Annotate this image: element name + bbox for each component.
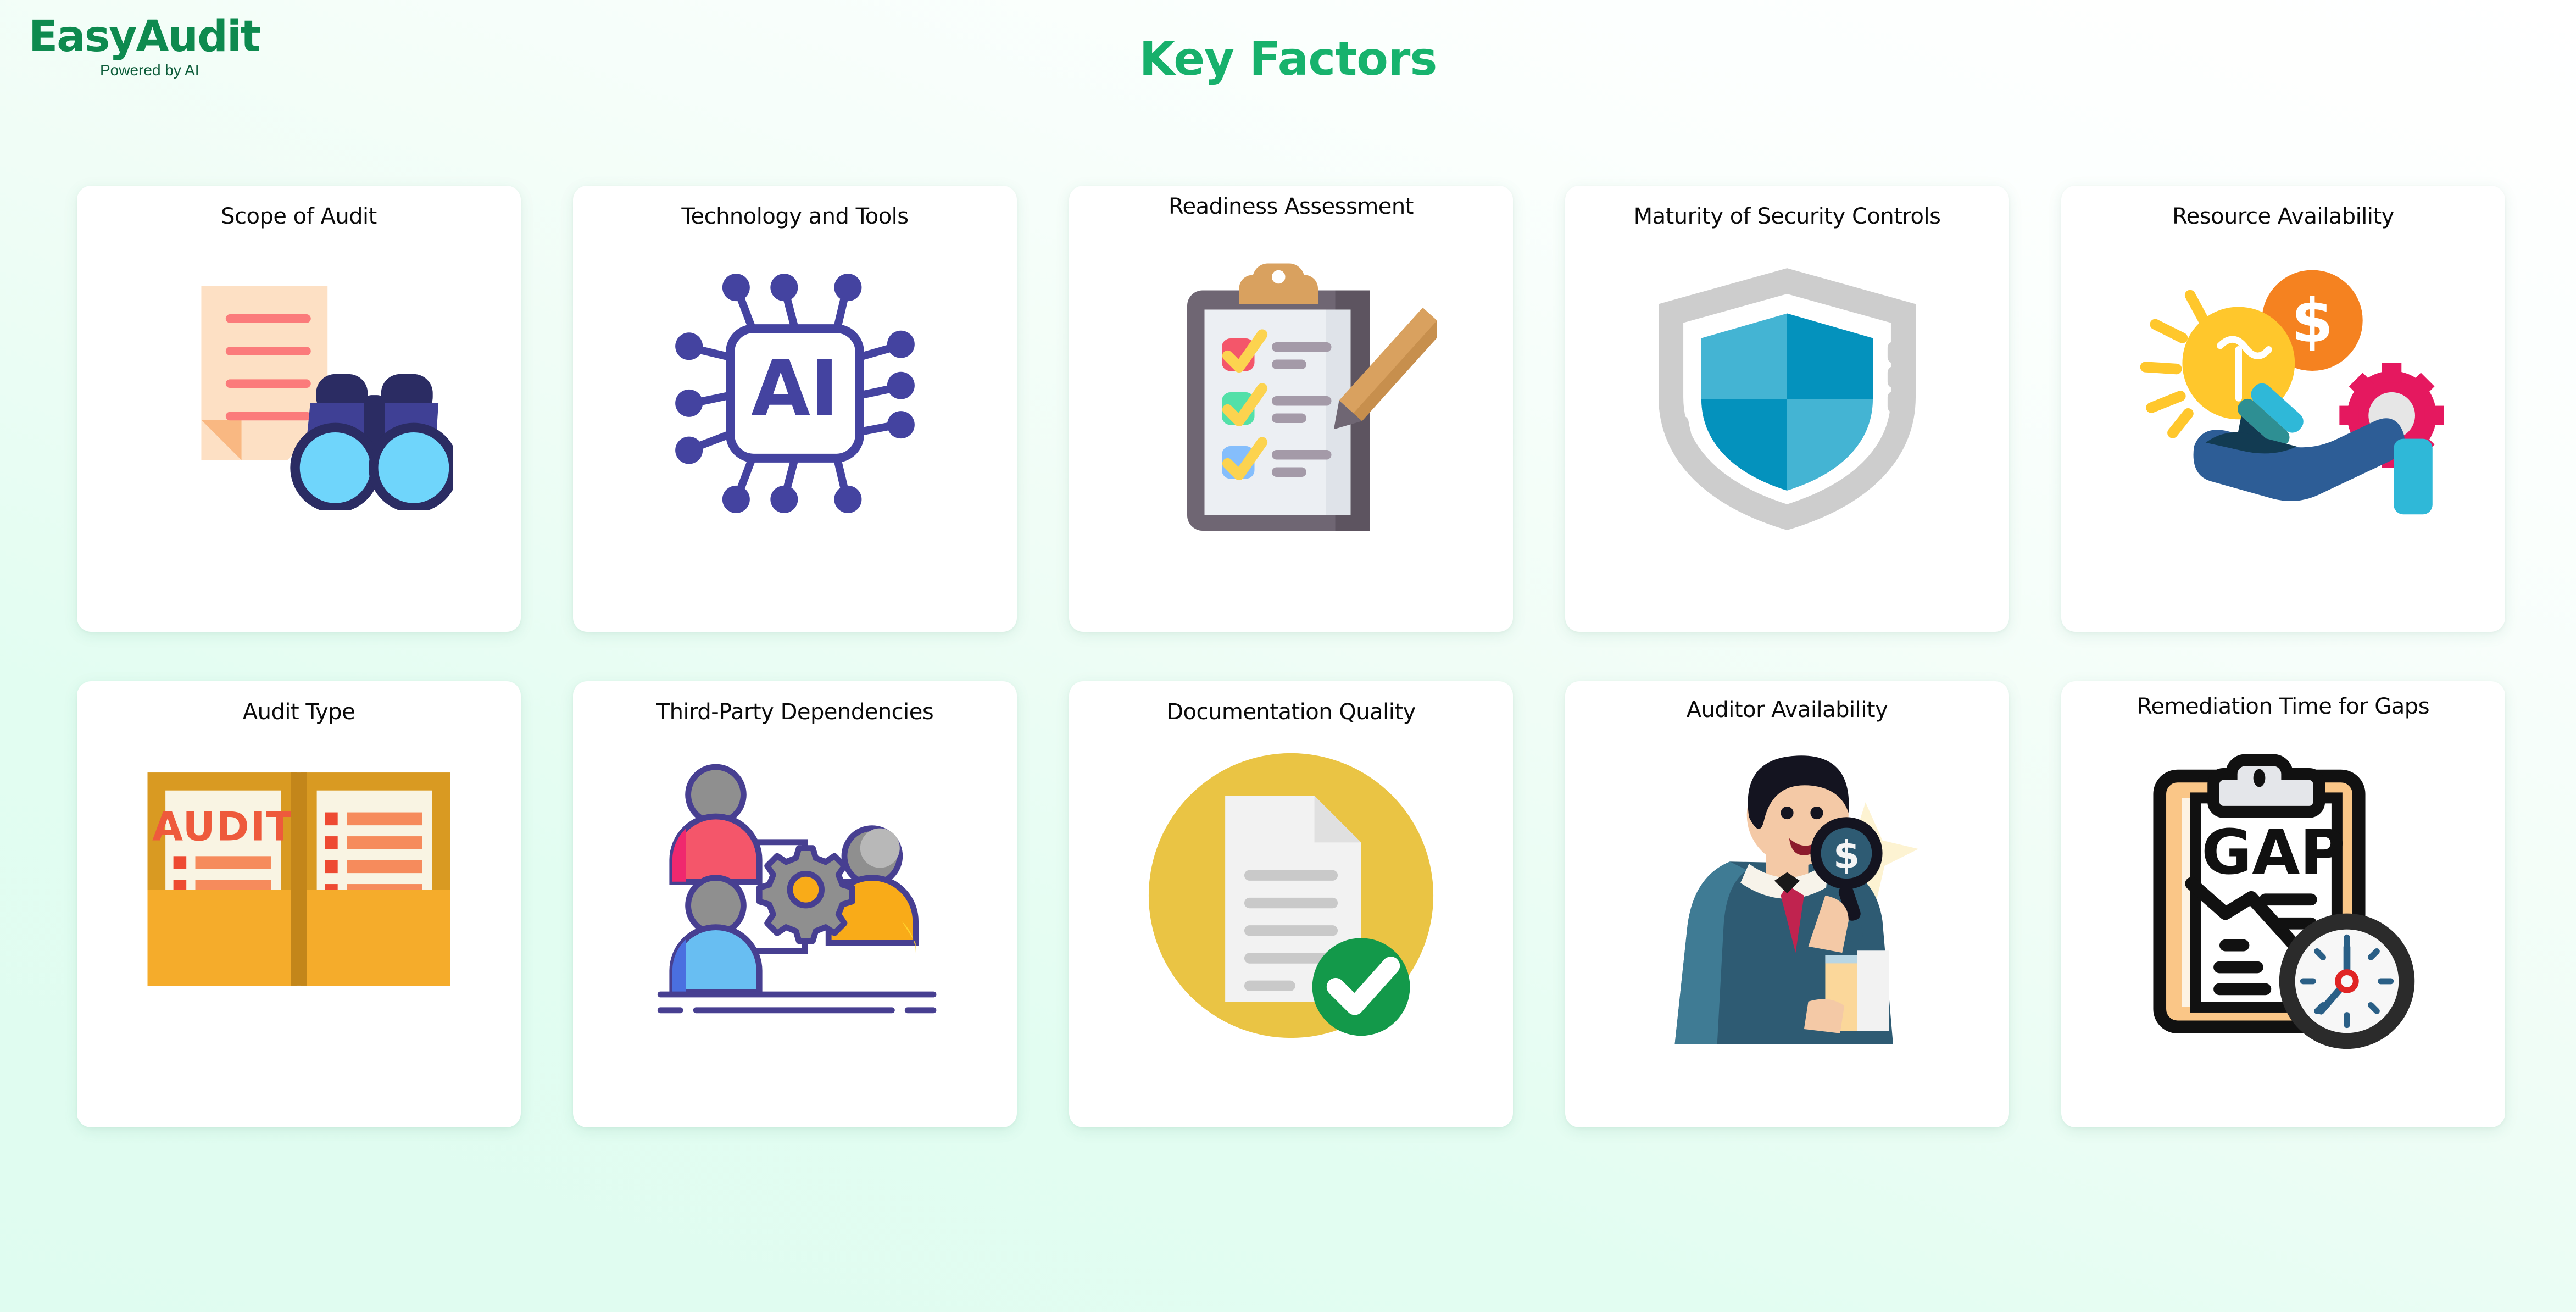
page-title: Key Factors — [0, 32, 2576, 86]
factor-card-technology-and-tools[interactable]: Technology and Tools — [573, 186, 1017, 632]
factor-card-documentation-quality[interactable]: Documentation Quality — [1069, 681, 1513, 1127]
svg-text:$: $ — [1833, 833, 1860, 877]
factor-card-readiness-assessment[interactable]: Readiness Assessment — [1069, 186, 1513, 632]
hand-bulb-coin-gear-icon: $ — [2118, 252, 2448, 515]
svg-text:AUDIT: AUDIT — [152, 804, 294, 850]
card-title: Readiness Assessment — [1078, 193, 1504, 220]
card-title: Technology and Tools — [582, 203, 1008, 230]
gap-clipboard-clock-icon: GAP — [2129, 736, 2437, 1055]
factor-card-remediation-time-for-gaps[interactable]: Remediation Time for Gaps GAP — [2061, 681, 2505, 1127]
card-title: Maturity of Security Controls — [1574, 203, 2000, 230]
card-title: Remediation Time for Gaps — [2070, 693, 2496, 720]
ai-chip-icon: AI — [658, 256, 932, 531]
card-title: Auditor Availability — [1574, 697, 2000, 723]
svg-text:$: $ — [2291, 286, 2333, 356]
document-check-circle-icon — [1132, 736, 1450, 1055]
people-gear-network-icon — [647, 753, 943, 1038]
page-header: EasyAudit Powered by AI Key Factors — [0, 0, 2576, 165]
factor-card-resource-availability[interactable]: Resource Availability $ — [2061, 186, 2505, 632]
clipboard-checklist-pencil-icon — [1145, 246, 1437, 554]
svg-text:GAP: GAP — [2201, 816, 2345, 888]
factor-card-maturity-of-security-controls[interactable]: Maturity of Security Controls — [1565, 186, 2009, 632]
auditor-magnifier-icon: $ — [1639, 731, 1935, 1060]
card-title: Third-Party Dependencies — [582, 699, 1008, 725]
card-title: Resource Availability — [2070, 203, 2496, 230]
svg-text:AI: AI — [751, 344, 839, 433]
factor-card-audit-type[interactable]: Audit Type AUDIT — [77, 681, 521, 1127]
factor-card-third-party-dependencies[interactable]: Third-Party Dependencies — [573, 681, 1017, 1127]
card-title: Scope of Audit — [86, 203, 512, 230]
open-audit-book-icon: AUDIT — [140, 764, 458, 994]
card-title: Audit Type — [86, 699, 512, 725]
key-factors-grid: Scope of Audit — [77, 186, 2500, 1127]
card-title: Documentation Quality — [1078, 699, 1504, 725]
factor-card-auditor-availability[interactable]: Auditor Availability $ — [1565, 681, 2009, 1127]
shield-icon — [1644, 254, 1930, 540]
factor-card-scope-of-audit[interactable]: Scope of Audit — [77, 186, 521, 632]
document-binoculars-icon — [145, 252, 453, 510]
